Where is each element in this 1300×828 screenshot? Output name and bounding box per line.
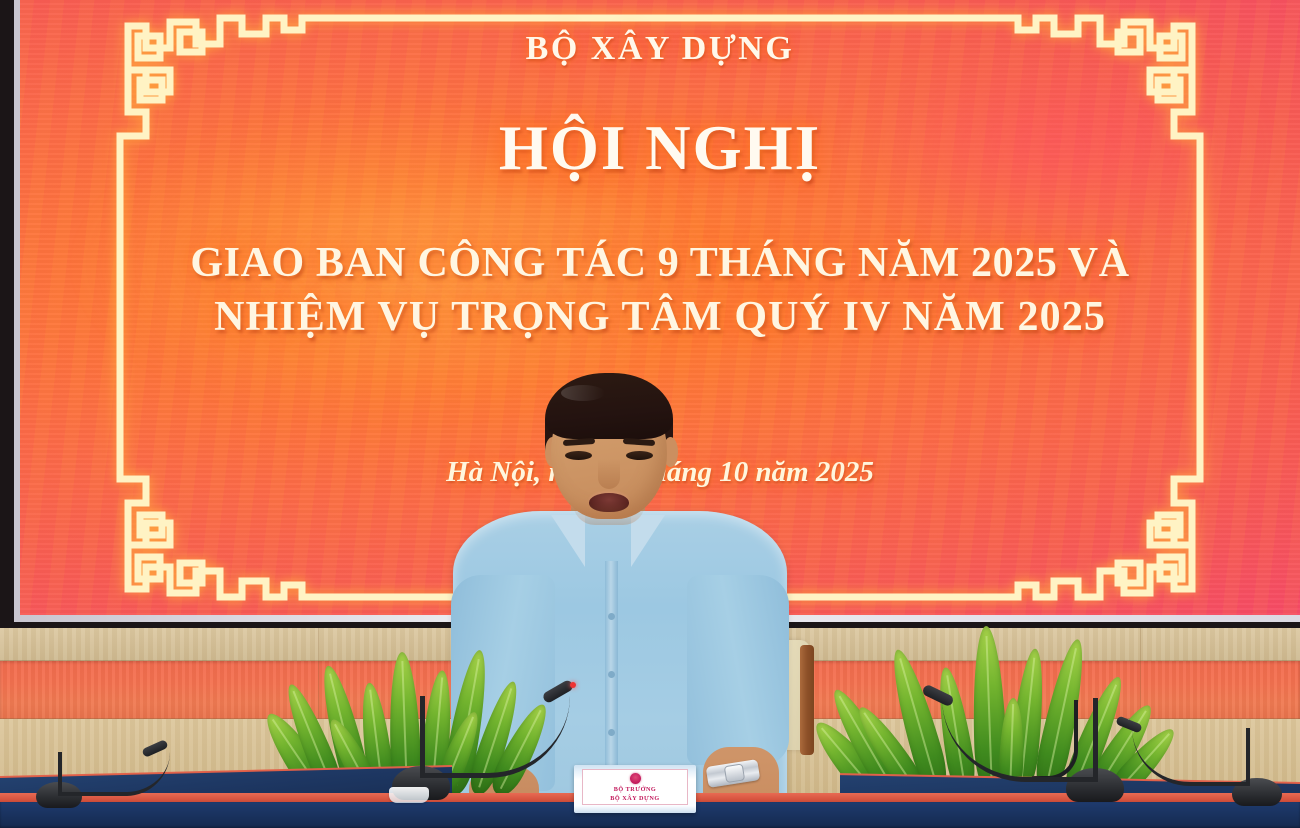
gooseneck-microphone-1 [386,690,576,800]
nose [598,459,620,489]
shirt-collar-right [631,515,665,567]
shirt-button [608,613,615,620]
slide-event-type: HỘI NGHỊ [20,112,1300,185]
microphone-led-icon [570,682,576,688]
watch-face [724,763,745,783]
microphone-neck [58,752,170,796]
gooseneck-microphone-4 [1122,718,1282,806]
slide-title-line-1: GIAO BAN CÔNG TÁC 9 THÁNG NĂM 2025 VÀ [20,236,1300,290]
nameplate-line-2: BỘ XÂY DỰNG [583,794,687,803]
slide-organization: BỘ XÂY DỰNG [20,30,1300,68]
shirt-button [608,729,615,736]
chin [573,503,645,525]
nameplate-inner-border: BỘ TRƯỞNG BỘ XÂY DỰNG [582,769,688,805]
chair-wooden-frame [800,645,814,755]
shirt-collar-left [551,515,585,567]
eye-right [626,451,653,460]
slide-title: GIAO BAN CÔNG TÁC 9 THÁNG NĂM 2025 VÀ NH… [20,236,1300,344]
gooseneck-microphone-2 [36,742,186,808]
microphone-neck [420,696,570,778]
gooseneck-microphone-3 [930,690,1130,802]
national-emblem-icon [630,773,641,784]
nameplate: BỘ TRƯỞNG BỘ XÂY DỰNG [574,765,696,813]
slide-title-line-2: NHIỆM VỤ TRỌNG TÂM QUÝ IV NĂM 2025 [20,290,1300,344]
water-glass [389,787,429,803]
microphone-neck [1132,728,1250,786]
microphone-neck [942,698,1098,782]
shirt-button [608,671,615,678]
speaker-hair [545,373,673,439]
conference-photo-scene: BỘ XÂY DỰNG HỘI NGHỊ GIAO BAN CÔNG TÁC 9… [0,0,1300,828]
shirt-sleeve-right [687,575,789,765]
eye-left [565,451,592,460]
nameplate-line-1: BỘ TRƯỞNG [583,785,687,794]
